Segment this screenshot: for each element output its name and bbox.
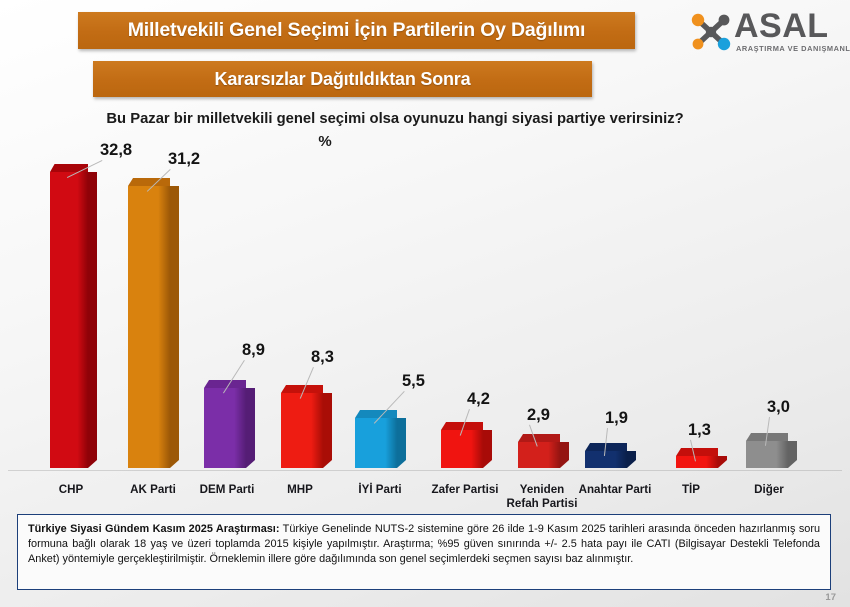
bar-top-bevel [560,434,569,442]
category-label: İYİ Parti [351,483,409,497]
asal-logo: ASAL ARAŞTIRMA VE DANIŞMANLIK [690,8,842,60]
bar-top-bevel [88,164,97,172]
bar-i̇yi̇-parti [355,418,397,468]
bar-top-bevel [483,422,492,430]
bar-face [441,430,483,468]
bar-ti̇p [676,456,718,468]
page-number: 17 [825,592,836,603]
bar-value-label: 1,9 [605,409,628,428]
category-label: DEM Parti [196,483,258,497]
bar-face [676,456,718,468]
bar-chp [50,172,88,468]
page-title: Milletvekili Genel Seçimi İçin Partileri… [128,19,586,42]
bar-top [441,422,483,430]
logo-wordmark: ASAL [734,8,829,44]
bar-top-bevel [246,380,255,388]
bar-face [128,186,170,468]
category-label: AK Parti [122,483,184,497]
bar-side [170,186,179,468]
bar-top-bevel [627,443,636,451]
bar-value-label: 8,3 [311,348,334,367]
bar-value-label: 1,3 [688,421,711,440]
value-leader-line [67,160,103,178]
bar-top [204,380,246,388]
bar-top-bevel [718,448,727,456]
value-leader-line [300,367,314,399]
bar-side [560,442,569,468]
bar-top [585,443,627,451]
bar-value-label: 2,9 [527,406,550,425]
bar-value-label: 3,0 [767,398,790,417]
bar-yeniden [518,442,560,468]
category-label: Yeniden Refah Partisi [502,483,582,510]
bar-diğer [746,441,788,468]
bar-anahtar-parti [585,451,627,468]
chart-baseline [8,470,842,471]
bar-side [788,441,797,468]
bar-face [585,451,627,468]
bar-value-label: 8,9 [242,341,265,360]
bar-top-bevel [788,433,797,441]
title-banner: Milletvekili Genel Seçimi İçin Partileri… [78,12,635,49]
bar-top [355,410,397,418]
bar-top [50,164,88,172]
bar-value-label: 31,2 [168,150,200,169]
category-label: Diğer [741,483,797,497]
methodology-note: Türkiye Siyasi Gündem Kasım 2025 Araştır… [17,514,831,590]
bar-side [627,451,636,468]
value-leader-line [374,391,405,424]
bar-top-bevel [323,385,332,393]
category-label: TİP [666,483,716,497]
category-label: Zafer Partisi [427,483,503,497]
bar-side [397,418,406,468]
methodology-lead: Türkiye Siyasi Gündem Kasım 2025 Araştır… [28,523,279,535]
bar-value-label: 5,5 [402,372,425,391]
survey-question: Bu Pazar bir milletvekili genel seçimi o… [0,111,790,127]
bar-dem-parti [204,388,246,468]
bar-side [246,388,255,468]
bar-face [518,442,560,468]
bar-side [483,430,492,468]
category-label: Anahtar Parti [574,483,656,497]
value-leader-line [223,360,245,394]
bar-top [518,434,560,442]
bar-side [718,456,727,468]
category-label: MHP [276,483,324,497]
bar-side [88,172,97,468]
bar-face [355,418,397,468]
bar-top [128,178,170,186]
bar-value-label: 4,2 [467,390,490,409]
bar-face [204,388,246,468]
bar-face [281,393,323,468]
slide-canvas: Milletvekili Genel Seçimi İçin Partileri… [0,0,850,607]
value-leader-line [529,425,538,447]
bar-side [323,393,332,468]
bar-face [746,441,788,468]
value-leader-line [147,169,171,192]
value-leader-line [604,428,608,456]
bar-ak-parti [128,186,170,468]
bar-zafer-partisi [441,430,483,468]
bar-top-bevel [170,178,179,186]
unit-symbol: % [0,133,650,150]
value-leader-line [690,440,696,461]
bar-top-bevel [397,410,406,418]
category-label: CHP [49,483,93,497]
bar-face [50,172,88,468]
subtitle-banner: Kararsızlar Dağıtıldıktan Sonra [93,61,592,97]
value-leader-line [460,409,470,435]
bar-top [746,433,788,441]
bar-top [281,385,323,393]
value-leader-line [765,417,770,446]
page-subtitle: Kararsızlar Dağıtıldıktan Sonra [215,69,471,90]
bar-mhp [281,393,323,468]
logo-mark-icon [690,12,732,52]
logo-tagline: ARAŞTIRMA VE DANIŞMANLIK [736,44,850,53]
bar-top [676,448,718,456]
